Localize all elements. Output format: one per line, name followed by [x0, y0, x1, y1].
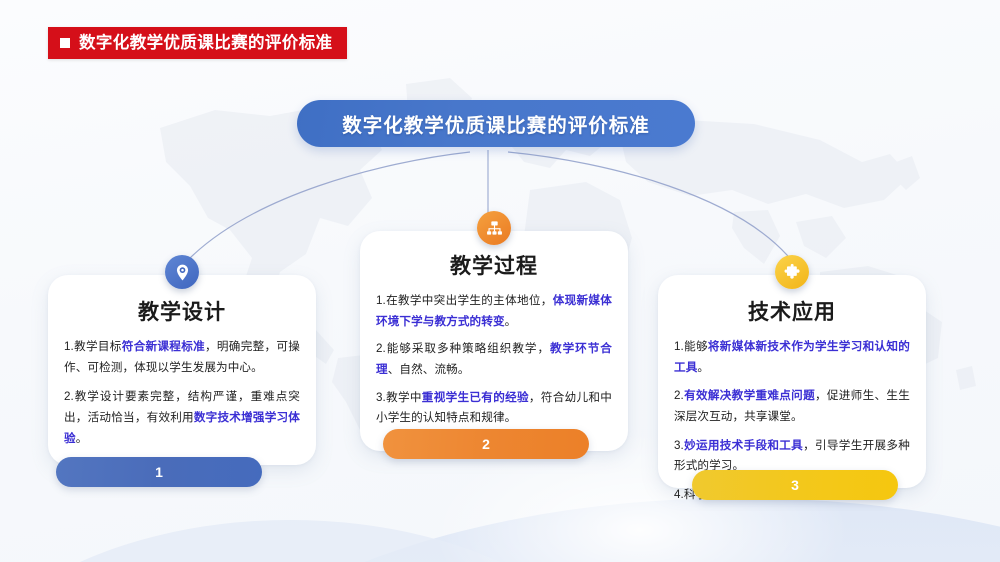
card-number-badge-1: 1: [56, 457, 262, 487]
list-item-text: 能够采取多种策略组织教学，: [386, 342, 550, 355]
card-list-item: 1.教学目标符合新课程标准，明确完整，可操作、可检测，体现以学生发展为中心。: [64, 337, 300, 378]
list-item-text: 。: [697, 361, 709, 374]
list-item-text: 教学中: [386, 391, 422, 404]
list-item-number: 1.: [376, 294, 386, 307]
list-item-number: 1.: [64, 340, 74, 353]
list-item-text: 、自然、流畅。: [388, 363, 470, 376]
sitemap-hierarchy-icon: [477, 211, 511, 245]
main-title-text: 数字化教学优质课比赛的评价标准: [342, 109, 650, 138]
highlighted-text: 妙运用技术手段和工具: [684, 439, 803, 452]
list-item-number: 3.: [674, 439, 684, 452]
card-number-label: 1: [155, 464, 163, 480]
list-item-text: 在教学中突出学生的主体地位，: [386, 294, 553, 307]
main-title-pill: 数字化教学优质课比赛的评价标准: [297, 100, 695, 147]
header-tag-label: 数字化教学优质课比赛的评价标准: [79, 35, 333, 52]
card-body: 1.教学目标符合新课程标准，明确完整，可操作、可检测，体现以学生发展为中心。2.…: [48, 337, 316, 449]
list-item-number: 1.: [674, 340, 684, 353]
card-list-item: 2.教学设计要素完整，结构严谨，重难点突出，活动恰当，有效利用数字技术增强学习体…: [64, 387, 300, 449]
card-title: 教学过程: [360, 256, 628, 277]
card-list-item: 1.在教学中突出学生的主体地位，体现新媒体环境下学与教方式的转变。: [376, 291, 612, 332]
list-item-number: 2.: [674, 389, 684, 402]
list-item-number: 2.: [376, 342, 386, 355]
card-number-badge-3: 3: [692, 470, 898, 500]
list-item-text: 能够: [684, 340, 708, 353]
page-header-tag: 数字化教学优质课比赛的评价标准: [48, 27, 347, 59]
list-item-text: 教学目标: [74, 340, 122, 353]
card-list-item: 1.能够将新媒体新技术作为学生学习和认知的工具。: [674, 337, 910, 378]
list-item-number: 4.: [674, 488, 684, 501]
slide-canvas: 数字化教学优质课比赛的评价标准 数字化教学优质课比赛的评价标准 教学设计 1.教…: [0, 0, 1000, 562]
card-list-item: 2.能够采取多种策略组织教学，教学环节合理、自然、流畅。: [376, 339, 612, 380]
puzzle-piece-icon: [775, 255, 809, 289]
highlighted-text: 符合新课程标准: [122, 340, 205, 353]
highlighted-text: 将新媒体新技术作为学生学习和认知的工具: [674, 340, 910, 374]
card-list-item: 2.有效解决教学重难点问题，促进师生、生生深层次互动，共享课堂。: [674, 386, 910, 427]
bottom-ellipse-decoration-secondary: [0, 520, 640, 562]
card-number-label: 2: [482, 436, 490, 452]
target-location-icon: [165, 255, 199, 289]
card-technology-application[interactable]: 技术应用 1.能够将新媒体新技术作为学生学习和认知的工具。2.有效解决教学重难点…: [658, 275, 926, 488]
list-item-text: 。: [505, 315, 517, 328]
card-number-label: 3: [791, 477, 799, 493]
bottom-ellipse-decoration: [150, 498, 1000, 562]
card-teaching-process[interactable]: 教学过程 1.在教学中突出学生的主体地位，体现新媒体环境下学与教方式的转变。2.…: [360, 231, 628, 451]
list-item-number: 2.: [64, 390, 74, 403]
list-item-number: 3.: [376, 391, 386, 404]
card-number-badge-2: 2: [383, 429, 589, 459]
highlighted-text: 重视学生已有的经验: [422, 391, 529, 404]
highlighted-text: 有效解决教学重难点问题: [684, 389, 815, 402]
card-teaching-design[interactable]: 教学设计 1.教学目标符合新课程标准，明确完整，可操作、可检测，体现以学生发展为…: [48, 275, 316, 465]
card-body: 1.在教学中突出学生的主体地位，体现新媒体环境下学与教方式的转变。2.能够采取多…: [360, 291, 628, 429]
card-title: 技术应用: [658, 302, 926, 323]
square-bullet-icon: [60, 38, 70, 48]
list-item-text: 。: [76, 432, 88, 445]
card-title: 教学设计: [48, 302, 316, 323]
card-list-item: 3.教学中重视学生已有的经验，符合幼儿和中小学生的认知特点和规律。: [376, 388, 612, 429]
